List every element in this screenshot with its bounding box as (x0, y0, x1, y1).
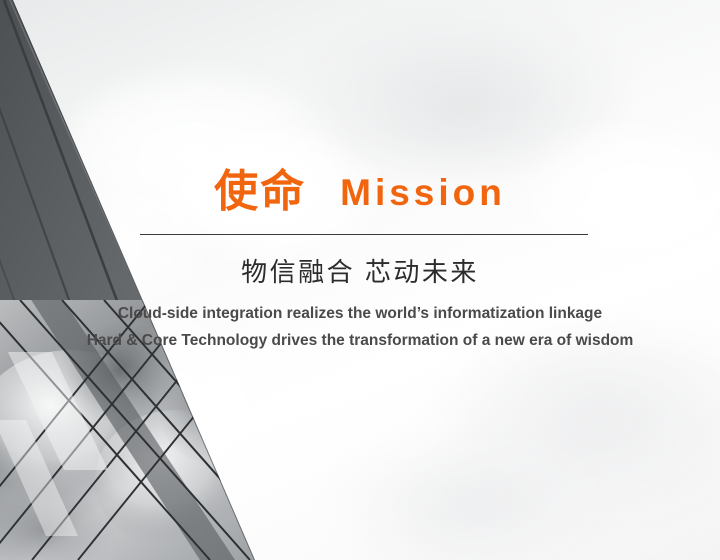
mission-banner: 使命Mission 物信融合 芯动未来 Cloud-side integrati… (0, 0, 720, 560)
mission-subtitle-chinese: 物信融合 芯动未来 (0, 256, 720, 289)
title-divider-rule (140, 234, 588, 235)
mission-title-chinese: 使命 (214, 167, 306, 216)
mission-description: Cloud-side integration realizes the worl… (0, 300, 720, 354)
mission-text-block: 使命Mission 物信融合 芯动未来 Cloud-side integrati… (0, 0, 720, 560)
mission-title-english: Mission (340, 172, 506, 213)
mission-title: 使命Mission (0, 170, 720, 214)
description-line-1: Cloud-side integration realizes the worl… (0, 300, 720, 327)
description-line-2: Hard & Core Technology drives the transf… (0, 327, 720, 354)
